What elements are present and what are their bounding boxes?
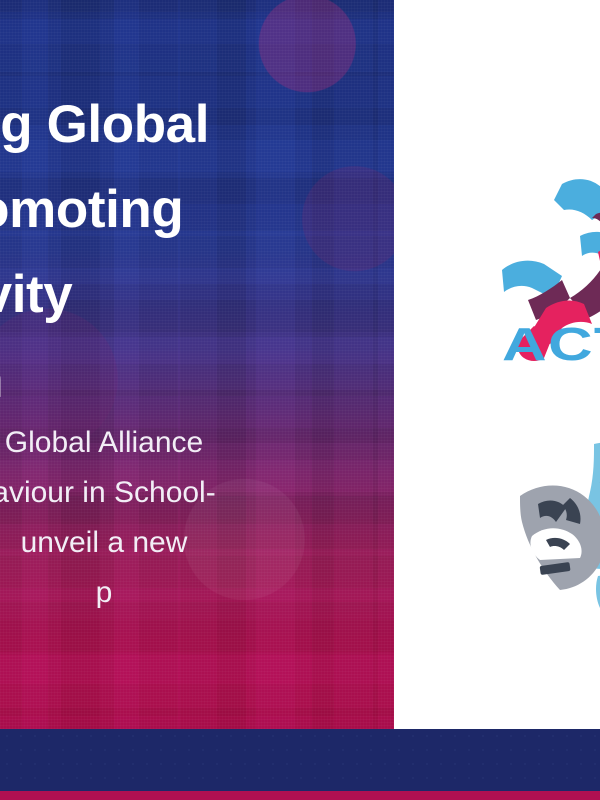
hero-gradient-panel: hing Global Promoting ctivity uth Global… bbox=[0, 0, 394, 729]
slide-canvas: hing Global Promoting ctivity uth Global… bbox=[0, 0, 600, 800]
footer-navy-band bbox=[0, 729, 600, 791]
petal-gray-left bbox=[520, 486, 600, 591]
hero-text-block: hing Global Promoting ctivity uth Global… bbox=[0, 0, 394, 729]
footer-dot-texture bbox=[0, 729, 600, 791]
sedentary-behaviour-petals-logo: ZZZ # bbox=[486, 440, 600, 615]
page-subtitle: Global Alliance aviour in School- unveil… bbox=[0, 418, 304, 618]
logo-column: ACTIV ZZZ # bbox=[394, 0, 600, 729]
svg-text:ACTIV: ACTIV bbox=[502, 318, 600, 370]
petal-navy-lower bbox=[596, 576, 600, 615]
page-title: hing Global Promoting ctivity uth bbox=[0, 82, 392, 422]
footer-crimson-strip bbox=[0, 791, 600, 800]
active-wordmark: ACTIV bbox=[502, 318, 600, 370]
active-healthy-kids-logo: ACTIV bbox=[484, 158, 600, 373]
